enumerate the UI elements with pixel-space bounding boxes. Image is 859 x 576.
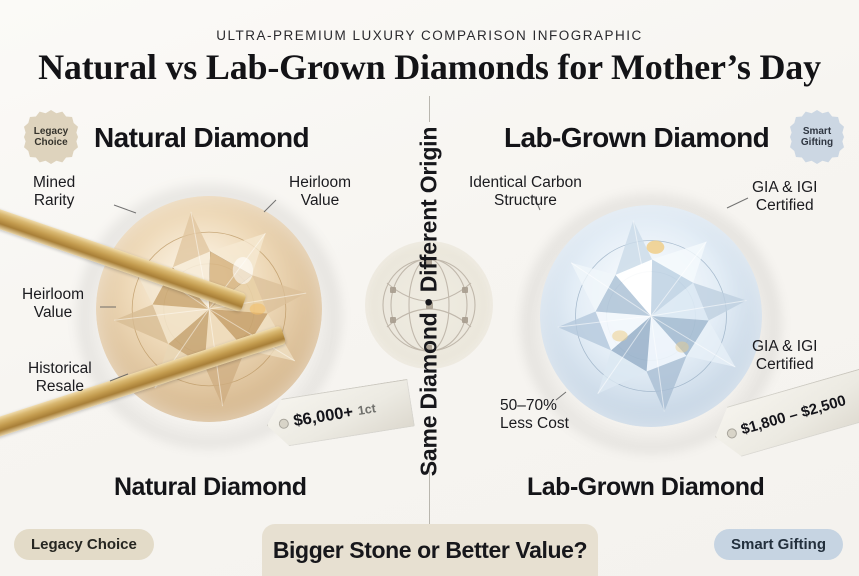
divider-line-bottom <box>429 470 430 525</box>
page-title: Natural vs Lab-Grown Diamonds for Mother… <box>0 46 859 88</box>
annotation-mined-rarity: Mined Rarity <box>33 174 75 210</box>
lab-grown-diamond-photo <box>540 205 762 427</box>
cta-banner: Bigger Stone or Better Value? <box>262 524 598 576</box>
smart-seal-line2: Gifting <box>801 137 833 149</box>
annotation-historical-resale: Historical Resale <box>28 360 92 396</box>
annotation-less-cost: 50–70% Less Cost <box>500 397 569 433</box>
annotation-heirloom-value-left: Heirloom Value <box>22 286 84 322</box>
divider-label: Same Diamond • Different Origin <box>416 111 443 493</box>
annotation-identical-carbon-structure: Identical Carbon Structure <box>469 174 582 210</box>
infographic-canvas: ULTRA-PREMIUM LUXURY COMPARISON INFOGRAP… <box>0 0 859 576</box>
natural-price-value: $6,000+ <box>292 402 354 430</box>
tag-hole-icon <box>278 418 289 429</box>
natural-price-unit: 1ct <box>357 401 377 418</box>
smart-seal-line1: Smart <box>803 126 831 138</box>
lab-stone-body <box>540 205 762 427</box>
legacy-seal-line2: Choice <box>34 137 67 149</box>
bottom-caption-lab-grown: Lab-Grown Diamond <box>527 473 764 502</box>
natural-diamond-heading: Natural Diamond <box>94 122 309 154</box>
pill-smart-gifting: Smart Gifting <box>714 529 843 560</box>
tag-hole-icon <box>726 427 738 439</box>
pill-legacy-choice: Legacy Choice <box>14 529 154 560</box>
annotation-heirloom-value-right: Heirloom Value <box>289 174 351 210</box>
smart-gifting-seal-badge: Smart Gifting <box>790 110 844 164</box>
legacy-seal-line1: Legacy <box>34 126 68 138</box>
lab-grown-diamond-heading: Lab-Grown Diamond <box>504 122 769 154</box>
lab-stone-facets-icon <box>540 205 762 427</box>
eyebrow-text: ULTRA-PREMIUM LUXURY COMPARISON INFOGRAP… <box>0 28 859 43</box>
legacy-choice-seal-badge: Legacy Choice <box>24 110 78 164</box>
annotation-gia-igi-certified-top: GIA & IGI Certified <box>752 179 817 215</box>
bottom-caption-natural: Natural Diamond <box>114 473 307 502</box>
annotation-gia-igi-certified-bottom: GIA & IGI Certified <box>752 338 817 374</box>
